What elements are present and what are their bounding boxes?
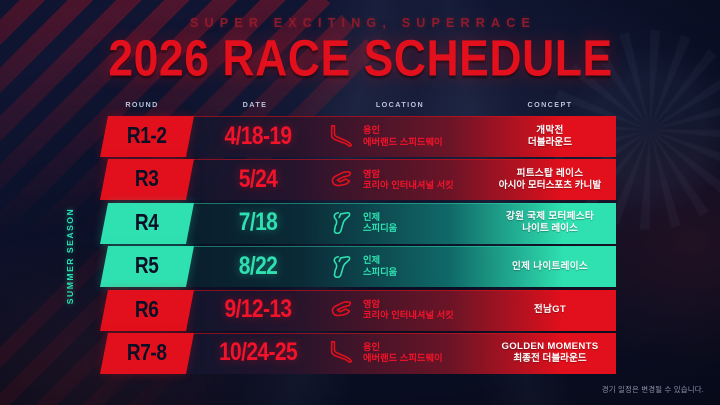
round-badge-label: R7-8	[127, 340, 167, 366]
location-venue: 스피디움	[363, 223, 397, 234]
column-header-concept: CONCEPT	[484, 100, 616, 109]
location-text: 용인에버랜드 스피드웨이	[363, 125, 443, 148]
concept-line-secondary: 아시아 모터스포츠 카니발	[499, 180, 601, 192]
summer-season-rail: SUMMER SEASON	[62, 196, 78, 316]
location-city: 영암	[363, 299, 454, 310]
poster-subtitle: SUPER EXCITING, SUPERRACE	[0, 16, 720, 30]
location-venue: 스피디움	[363, 267, 397, 278]
schedule-row: R47/18인제스피디움강원 국제 모터페스타나이트 레이스	[104, 203, 616, 244]
date-cell: 8/22	[200, 246, 316, 287]
round-badge: R1-2	[100, 116, 194, 157]
location-city: 인제	[363, 212, 397, 223]
date-cell: 5/24	[200, 159, 316, 200]
column-header-location: LOCATION	[340, 100, 460, 109]
date-cell: 7/18	[200, 203, 316, 244]
schedule-row: R58/22인제스피디움인제 나이트레이스	[104, 246, 616, 287]
location-city: 용인	[363, 125, 443, 136]
concept-line-primary: 피트스탑 레이스	[517, 168, 584, 180]
race-date: 7/18	[239, 209, 277, 237]
everland-circuit-icon	[326, 123, 356, 151]
location-cell: 용인에버랜드 스피드웨이	[326, 116, 476, 157]
round-badge-label: R1-2	[127, 123, 167, 149]
location-text: 인제스피디움	[363, 212, 397, 235]
location-venue: 에버랜드 스피드웨이	[363, 353, 443, 364]
schedule-rows: R1-24/18-19용인에버랜드 스피드웨이개막전더블라운드R35/24영암코…	[104, 116, 616, 374]
round-badge: R4	[100, 203, 194, 244]
location-cell: 인제스피디움	[326, 246, 476, 287]
inje-speedium-circuit-icon	[326, 209, 356, 237]
table-column-headers: ROUND DATE LOCATION CONCEPT	[104, 100, 616, 114]
column-header-round: ROUND	[104, 100, 180, 109]
concept-line-primary: GOLDEN MOMENTS	[502, 341, 599, 353]
date-cell: 9/12-13	[200, 290, 316, 331]
concept-cell: 인제 나이트레이스	[484, 246, 616, 287]
race-date: 8/22	[239, 253, 277, 281]
inje-speedium-circuit-icon	[326, 253, 356, 281]
column-header-date: DATE	[200, 100, 310, 109]
location-text: 영암코리아 인터내셔널 서킷	[363, 169, 454, 192]
race-date: 4/18-19	[224, 122, 291, 150]
concept-line-primary: 인제 나이트레이스	[512, 261, 588, 273]
summer-season-label: SUMMER SEASON	[65, 208, 75, 304]
round-badge-label: R6	[135, 297, 159, 323]
everland-circuit-icon	[326, 339, 356, 367]
korea-international-circuit-icon	[326, 166, 356, 194]
concept-cell: 전남GT	[484, 290, 616, 331]
round-badge: R7-8	[100, 333, 194, 374]
concept-cell: GOLDEN MOMENTS최종전 더블라운드	[484, 333, 616, 374]
schedule-row: R69/12-13영암코리아 인터내셔널 서킷전남GT	[104, 290, 616, 331]
race-date: 5/24	[239, 166, 277, 194]
concept-line-primary: 강원 국제 모터페스타	[506, 211, 594, 223]
concept-line-primary: 개막전	[536, 125, 563, 137]
race-date: 10/24-25	[219, 339, 297, 367]
concept-cell: 피트스탑 레이스아시아 모터스포츠 카니발	[484, 159, 616, 200]
location-venue: 코리아 인터내셔널 서킷	[363, 310, 454, 321]
location-city: 영암	[363, 169, 454, 180]
round-badge-label: R5	[135, 253, 159, 279]
schedule-row: R1-24/18-19용인에버랜드 스피드웨이개막전더블라운드	[104, 116, 616, 157]
location-city: 용인	[363, 342, 443, 353]
round-badge-label: R3	[135, 167, 159, 193]
round-badge: R5	[100, 246, 194, 287]
location-cell: 영암코리아 인터내셔널 서킷	[326, 159, 476, 200]
schedule-row: R35/24영암코리아 인터내셔널 서킷피트스탑 레이스아시아 모터스포츠 카니…	[104, 159, 616, 200]
location-city: 인제	[363, 255, 397, 266]
concept-line-secondary: 나이트 레이스	[522, 223, 578, 235]
race-date: 9/12-13	[224, 296, 291, 324]
race-schedule-table: ROUND DATE LOCATION CONCEPT R1-24/18-19용…	[104, 100, 616, 376]
poster-title: 2026 RACE SCHEDULE	[0, 33, 720, 84]
schedule-row: R7-810/24-25용인에버랜드 스피드웨이GOLDEN MOMENTS최종…	[104, 333, 616, 374]
concept-cell: 개막전더블라운드	[484, 116, 616, 157]
concept-line-secondary: 더블라운드	[528, 137, 572, 149]
poster-header: SUPER EXCITING, SUPERRACE 2026 RACE SCHE…	[0, 16, 720, 75]
location-text: 인제스피디움	[363, 255, 397, 278]
location-text: 용인에버랜드 스피드웨이	[363, 342, 443, 365]
round-badge: R3	[100, 159, 194, 200]
round-badge-label: R4	[135, 210, 159, 236]
location-text: 영암코리아 인터내셔널 서킷	[363, 299, 454, 322]
concept-cell: 강원 국제 모터페스타나이트 레이스	[484, 203, 616, 244]
location-cell: 용인에버랜드 스피드웨이	[326, 333, 476, 374]
schedule-disclaimer: 경기 일정은 변경될 수 있습니다.	[602, 384, 704, 395]
date-cell: 4/18-19	[200, 116, 316, 157]
concept-line-secondary: 최종전 더블라운드	[513, 353, 586, 365]
korea-international-circuit-icon	[326, 296, 356, 324]
location-venue: 코리아 인터내셔널 서킷	[363, 180, 454, 191]
location-cell: 인제스피디움	[326, 203, 476, 244]
date-cell: 10/24-25	[200, 333, 316, 374]
location-venue: 에버랜드 스피드웨이	[363, 137, 443, 148]
concept-line-primary: 전남GT	[534, 304, 566, 316]
round-badge: R6	[100, 290, 194, 331]
location-cell: 영암코리아 인터내셔널 서킷	[326, 290, 476, 331]
